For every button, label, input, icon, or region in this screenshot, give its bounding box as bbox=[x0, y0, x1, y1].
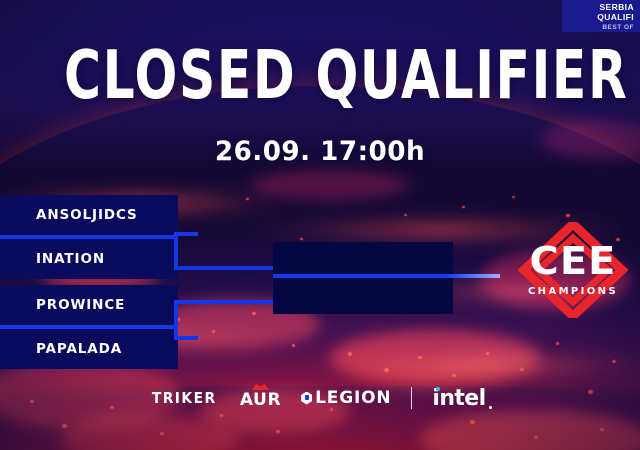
legion-hex-icon bbox=[301, 392, 312, 405]
cee-champions-logo: CEE CHAMPIONS bbox=[518, 222, 628, 318]
logo-title: CEE bbox=[515, 242, 631, 280]
bracket-arm-lower-vertical bbox=[174, 300, 178, 340]
badge-line-3: BEST OF bbox=[562, 23, 634, 32]
sponsor-triker: TRIKER bbox=[152, 389, 217, 407]
sponsor-aur: AUR bbox=[240, 386, 281, 410]
aur-chevron-icon bbox=[252, 383, 269, 390]
bracket-arm-upper-vertical bbox=[174, 232, 178, 270]
semifinal-slot-bottom[interactable] bbox=[273, 278, 453, 314]
logo-subtitle: CHAMPIONS bbox=[518, 286, 628, 297]
bracket-slot-2[interactable]: INATION bbox=[0, 239, 178, 279]
team-name: INATION bbox=[0, 251, 105, 267]
team-name: PROWINCE bbox=[0, 297, 125, 313]
sponsor-aur-label: AUR bbox=[240, 390, 281, 410]
sponsor-intel-label: intel bbox=[432, 386, 485, 411]
event-datetime: 26.09. 17:00h bbox=[10, 136, 631, 167]
bracket-slot-1[interactable]: ANSOLJIDCS bbox=[0, 195, 178, 235]
sponsor-intel: intel bbox=[432, 386, 490, 411]
page-title: CLOSED QUALIFIER bbox=[64, 44, 576, 108]
semifinal-slot-top[interactable] bbox=[273, 242, 453, 274]
badge-line-2: QUALIFI bbox=[562, 13, 634, 23]
bracket-arm-upper-top bbox=[174, 232, 198, 236]
team-name: ANSOLJIDCS bbox=[0, 207, 138, 223]
intel-i-dot-icon bbox=[436, 387, 440, 391]
bracket-slot-3[interactable]: PROWINCE bbox=[0, 285, 178, 325]
sponsor-divider bbox=[411, 387, 412, 409]
final-connector-line bbox=[273, 274, 500, 278]
tournament-graphic: SERBIA QUALIFI BEST OF CLOSED QUALIFIER … bbox=[0, 0, 640, 450]
bracket-arm-lower-bottom bbox=[174, 336, 198, 340]
team-name: PAPALADA bbox=[0, 341, 122, 357]
sponsor-legion: LEGION bbox=[301, 388, 391, 408]
sponsor-bar: TRIKER AUR LEGION intel bbox=[0, 381, 640, 415]
region-badge: SERBIA QUALIFI BEST OF bbox=[562, 0, 640, 32]
sponsor-legion-label: LEGION bbox=[315, 388, 391, 408]
intel-registered-icon bbox=[489, 406, 492, 409]
bracket-slot-4[interactable]: PAPALADA bbox=[0, 329, 178, 369]
